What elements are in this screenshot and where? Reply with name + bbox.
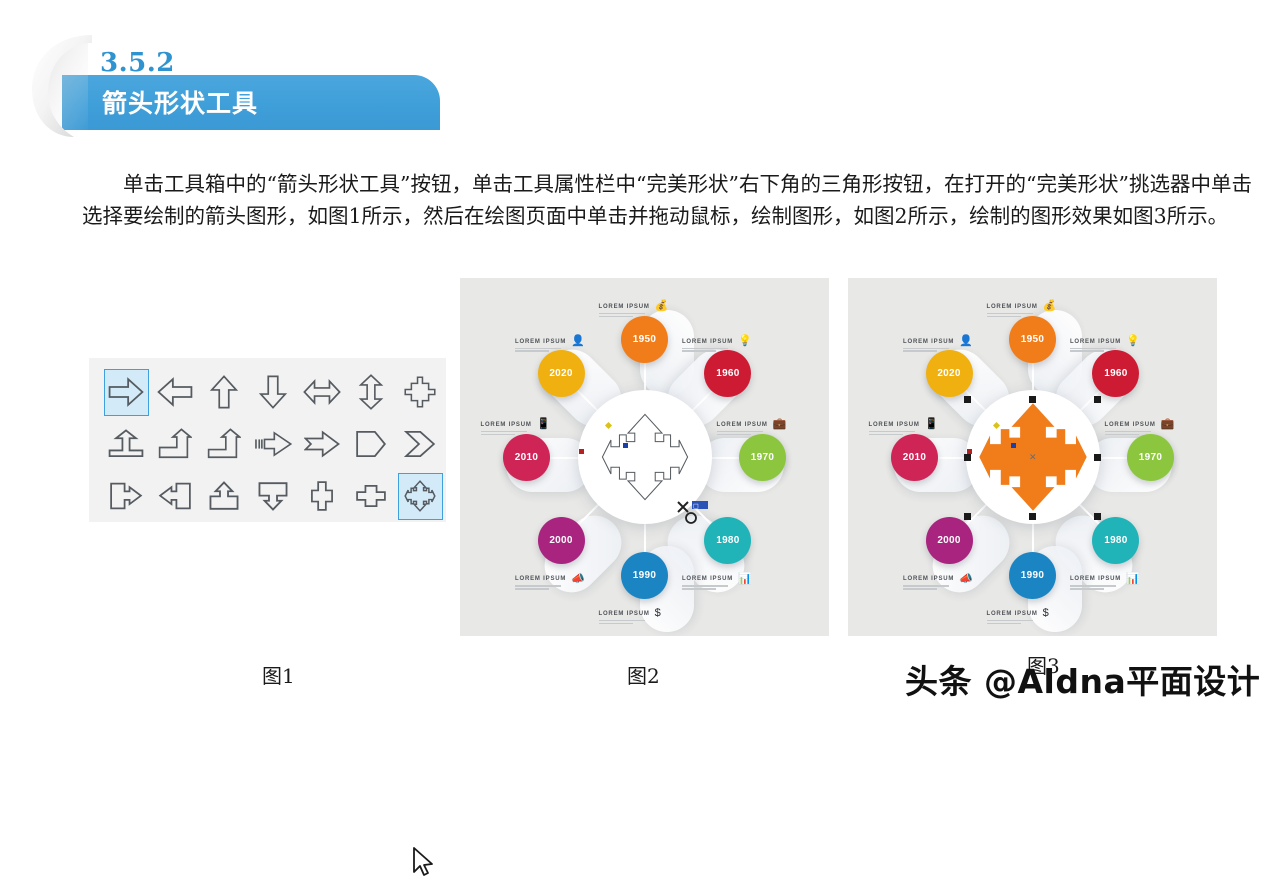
- shape-left-arrow[interactable]: [150, 366, 199, 418]
- node-label: LOREM IPSUM💼: [717, 413, 787, 437]
- node-label-text: LOREM IPSUM: [903, 330, 954, 354]
- shape-left-right-arrow[interactable]: [297, 366, 346, 418]
- node-label-text: LOREM IPSUM: [1070, 330, 1121, 354]
- shape-vertical-cross-arrow[interactable]: [297, 470, 346, 522]
- figure-row: ◻ 1950LOREM IPSUM💰1960LOREM IPSUM💡1970LO…: [0, 278, 1280, 678]
- node-label: LOREM IPSUM👤: [515, 330, 585, 354]
- node-label-text: LOREM IPSUM: [515, 567, 566, 591]
- person-icon: 👤: [959, 336, 973, 347]
- marker-dot-red: [579, 449, 584, 454]
- year-node-1970: 1970: [739, 434, 786, 481]
- section-number: 3.5.2: [100, 48, 175, 78]
- phone-icon: 📱: [537, 419, 551, 430]
- year-node-1990: 1990: [1009, 552, 1056, 599]
- node-label-text: LOREM IPSUM: [682, 330, 733, 354]
- node-label-text: LOREM IPSUM: [599, 602, 650, 626]
- perfect-shapes-picker[interactable]: [89, 358, 446, 522]
- year-node-1990: 1990: [621, 552, 668, 599]
- year-node-1950: 1950: [621, 316, 668, 363]
- node-label: LOREM IPSUM👤: [903, 330, 973, 354]
- shape-four-way-arrow[interactable]: [395, 366, 444, 418]
- node-label: LOREM IPSUM💡: [682, 330, 752, 354]
- shape-left-callout-arrow[interactable]: [150, 470, 199, 522]
- year-node-1980: 1980: [704, 517, 751, 564]
- node-label-text: LOREM IPSUM: [717, 413, 768, 437]
- year-node-2010: 2010: [891, 434, 938, 481]
- selection-handle[interactable]: [1029, 396, 1036, 403]
- bar-chart-icon: 📊: [1126, 574, 1140, 585]
- node-label: LOREM IPSUM$: [987, 602, 1049, 626]
- phone-icon: 📱: [925, 419, 939, 430]
- node-label: LOREM IPSUM$: [599, 602, 661, 626]
- year-node-2020: 2020: [926, 350, 973, 397]
- selection-handle[interactable]: [1094, 396, 1101, 403]
- shape-striped-right-arrow[interactable]: [248, 418, 297, 470]
- shape-up-callout-arrow[interactable]: [199, 470, 248, 522]
- section-header: 箭头形状工具 3.5.2: [0, 0, 470, 150]
- marker-dot-blue: [623, 443, 628, 448]
- node-label-text: LOREM IPSUM: [1070, 567, 1121, 591]
- shape-bent-arrow[interactable]: [150, 418, 199, 470]
- node-label-text: LOREM IPSUM: [869, 413, 920, 437]
- megaphone-icon: 📣: [959, 574, 973, 585]
- crosshair-draw-cursor: ◻: [676, 500, 710, 526]
- person-icon: 👤: [571, 336, 585, 347]
- body-text: 单击工具箱中的“箭头形状工具”按钮，单击工具属性栏中“完美形状”右下角的三角形按…: [82, 168, 1252, 232]
- shape-right-callout-arrow[interactable]: [101, 470, 150, 522]
- section-title: 箭头形状工具: [102, 84, 258, 120]
- shape-chevron-arrow[interactable]: [395, 418, 444, 470]
- year-node-1980: 1980: [1092, 517, 1139, 564]
- instruction-paragraph: 单击工具箱中的“箭头形状工具”按钮，单击工具属性栏中“完美形状”右下角的三角形按…: [82, 168, 1252, 232]
- money-bag-icon: 💰: [655, 301, 669, 312]
- year-node-2020: 2020: [538, 350, 585, 397]
- shape-down-callout-arrow[interactable]: [248, 470, 297, 522]
- dollar-icon: $: [1043, 608, 1049, 619]
- shape-four-way-serrated-arrow[interactable]: [395, 470, 444, 522]
- year-node-1960: 1960: [1092, 350, 1139, 397]
- selection-handle[interactable]: [1094, 513, 1101, 520]
- svg-text:◻: ◻: [693, 503, 699, 510]
- node-label: LOREM IPSUM📊: [682, 567, 752, 591]
- money-bag-icon: 💰: [1043, 301, 1057, 312]
- shape-pentagon-arrow[interactable]: [346, 418, 395, 470]
- year-node-1970: 1970: [1127, 434, 1174, 481]
- watermark: 头条 @Aldna平面设计: [905, 655, 1260, 703]
- shape-down-arrow[interactable]: [248, 366, 297, 418]
- node-label: LOREM IPSUM📣: [903, 567, 973, 591]
- node-label: LOREM IPSUM💰: [599, 295, 669, 319]
- node-label-text: LOREM IPSUM: [1105, 413, 1156, 437]
- shape-bent-up-arrow[interactable]: [199, 418, 248, 470]
- wallet-icon: 💼: [773, 419, 787, 430]
- node-label: LOREM IPSUM📱: [481, 413, 551, 437]
- shape-center-marker: ✕: [1029, 452, 1037, 463]
- node-label: LOREM IPSUM💡: [1070, 330, 1140, 354]
- marker-dot-blue: [1011, 443, 1016, 448]
- node-label: LOREM IPSUM💰: [987, 295, 1057, 319]
- shape-right-arrow[interactable]: [101, 366, 150, 418]
- node-label-text: LOREM IPSUM: [903, 567, 954, 591]
- shape-up-tee-arrow[interactable]: [101, 418, 150, 470]
- megaphone-icon: 📣: [571, 574, 585, 585]
- figure-2-infographic: ◻ 1950LOREM IPSUM💰1960LOREM IPSUM💡1970LO…: [460, 278, 829, 636]
- lightbulb-icon: 💡: [1126, 336, 1140, 347]
- selection-handle[interactable]: [1094, 454, 1101, 461]
- node-label-text: LOREM IPSUM: [682, 567, 733, 591]
- node-label-text: LOREM IPSUM: [515, 330, 566, 354]
- shape-up-down-arrow[interactable]: [346, 366, 395, 418]
- dollar-icon: $: [655, 608, 661, 619]
- shape-notched-right-arrow[interactable]: [297, 418, 346, 470]
- caption-figure-1: 图1: [262, 660, 295, 689]
- shape-horizontal-cross-arrow[interactable]: [346, 470, 395, 522]
- year-node-1950: 1950: [1009, 316, 1056, 363]
- node-label-text: LOREM IPSUM: [987, 602, 1038, 626]
- node-label-text: LOREM IPSUM: [599, 295, 650, 319]
- year-node-2000: 2000: [538, 517, 585, 564]
- node-label-text: LOREM IPSUM: [987, 295, 1038, 319]
- selection-handle[interactable]: [964, 454, 971, 461]
- figure-3-infographic: ✕ 1950LOREM IPSUM💰1960LOREM IPSUM💡1970LO…: [848, 278, 1217, 636]
- wallet-icon: 💼: [1161, 419, 1175, 430]
- selection-handle[interactable]: [1029, 513, 1036, 520]
- node-label: LOREM IPSUM💼: [1105, 413, 1175, 437]
- bar-chart-icon: 📊: [738, 574, 752, 585]
- arrow-pointer-cursor: [411, 846, 437, 878]
- shape-up-arrow[interactable]: [199, 366, 248, 418]
- shape-grid: [101, 366, 444, 522]
- selection-handle[interactable]: [964, 513, 971, 520]
- lightbulb-icon: 💡: [738, 336, 752, 347]
- year-node-1960: 1960: [704, 350, 751, 397]
- node-label: LOREM IPSUM📱: [869, 413, 939, 437]
- selection-handle[interactable]: [964, 396, 971, 403]
- node-label: LOREM IPSUM📊: [1070, 567, 1140, 591]
- year-node-2010: 2010: [503, 434, 550, 481]
- year-node-2000: 2000: [926, 517, 973, 564]
- node-label: LOREM IPSUM📣: [515, 567, 585, 591]
- node-label-text: LOREM IPSUM: [481, 413, 532, 437]
- caption-figure-2: 图2: [627, 660, 660, 689]
